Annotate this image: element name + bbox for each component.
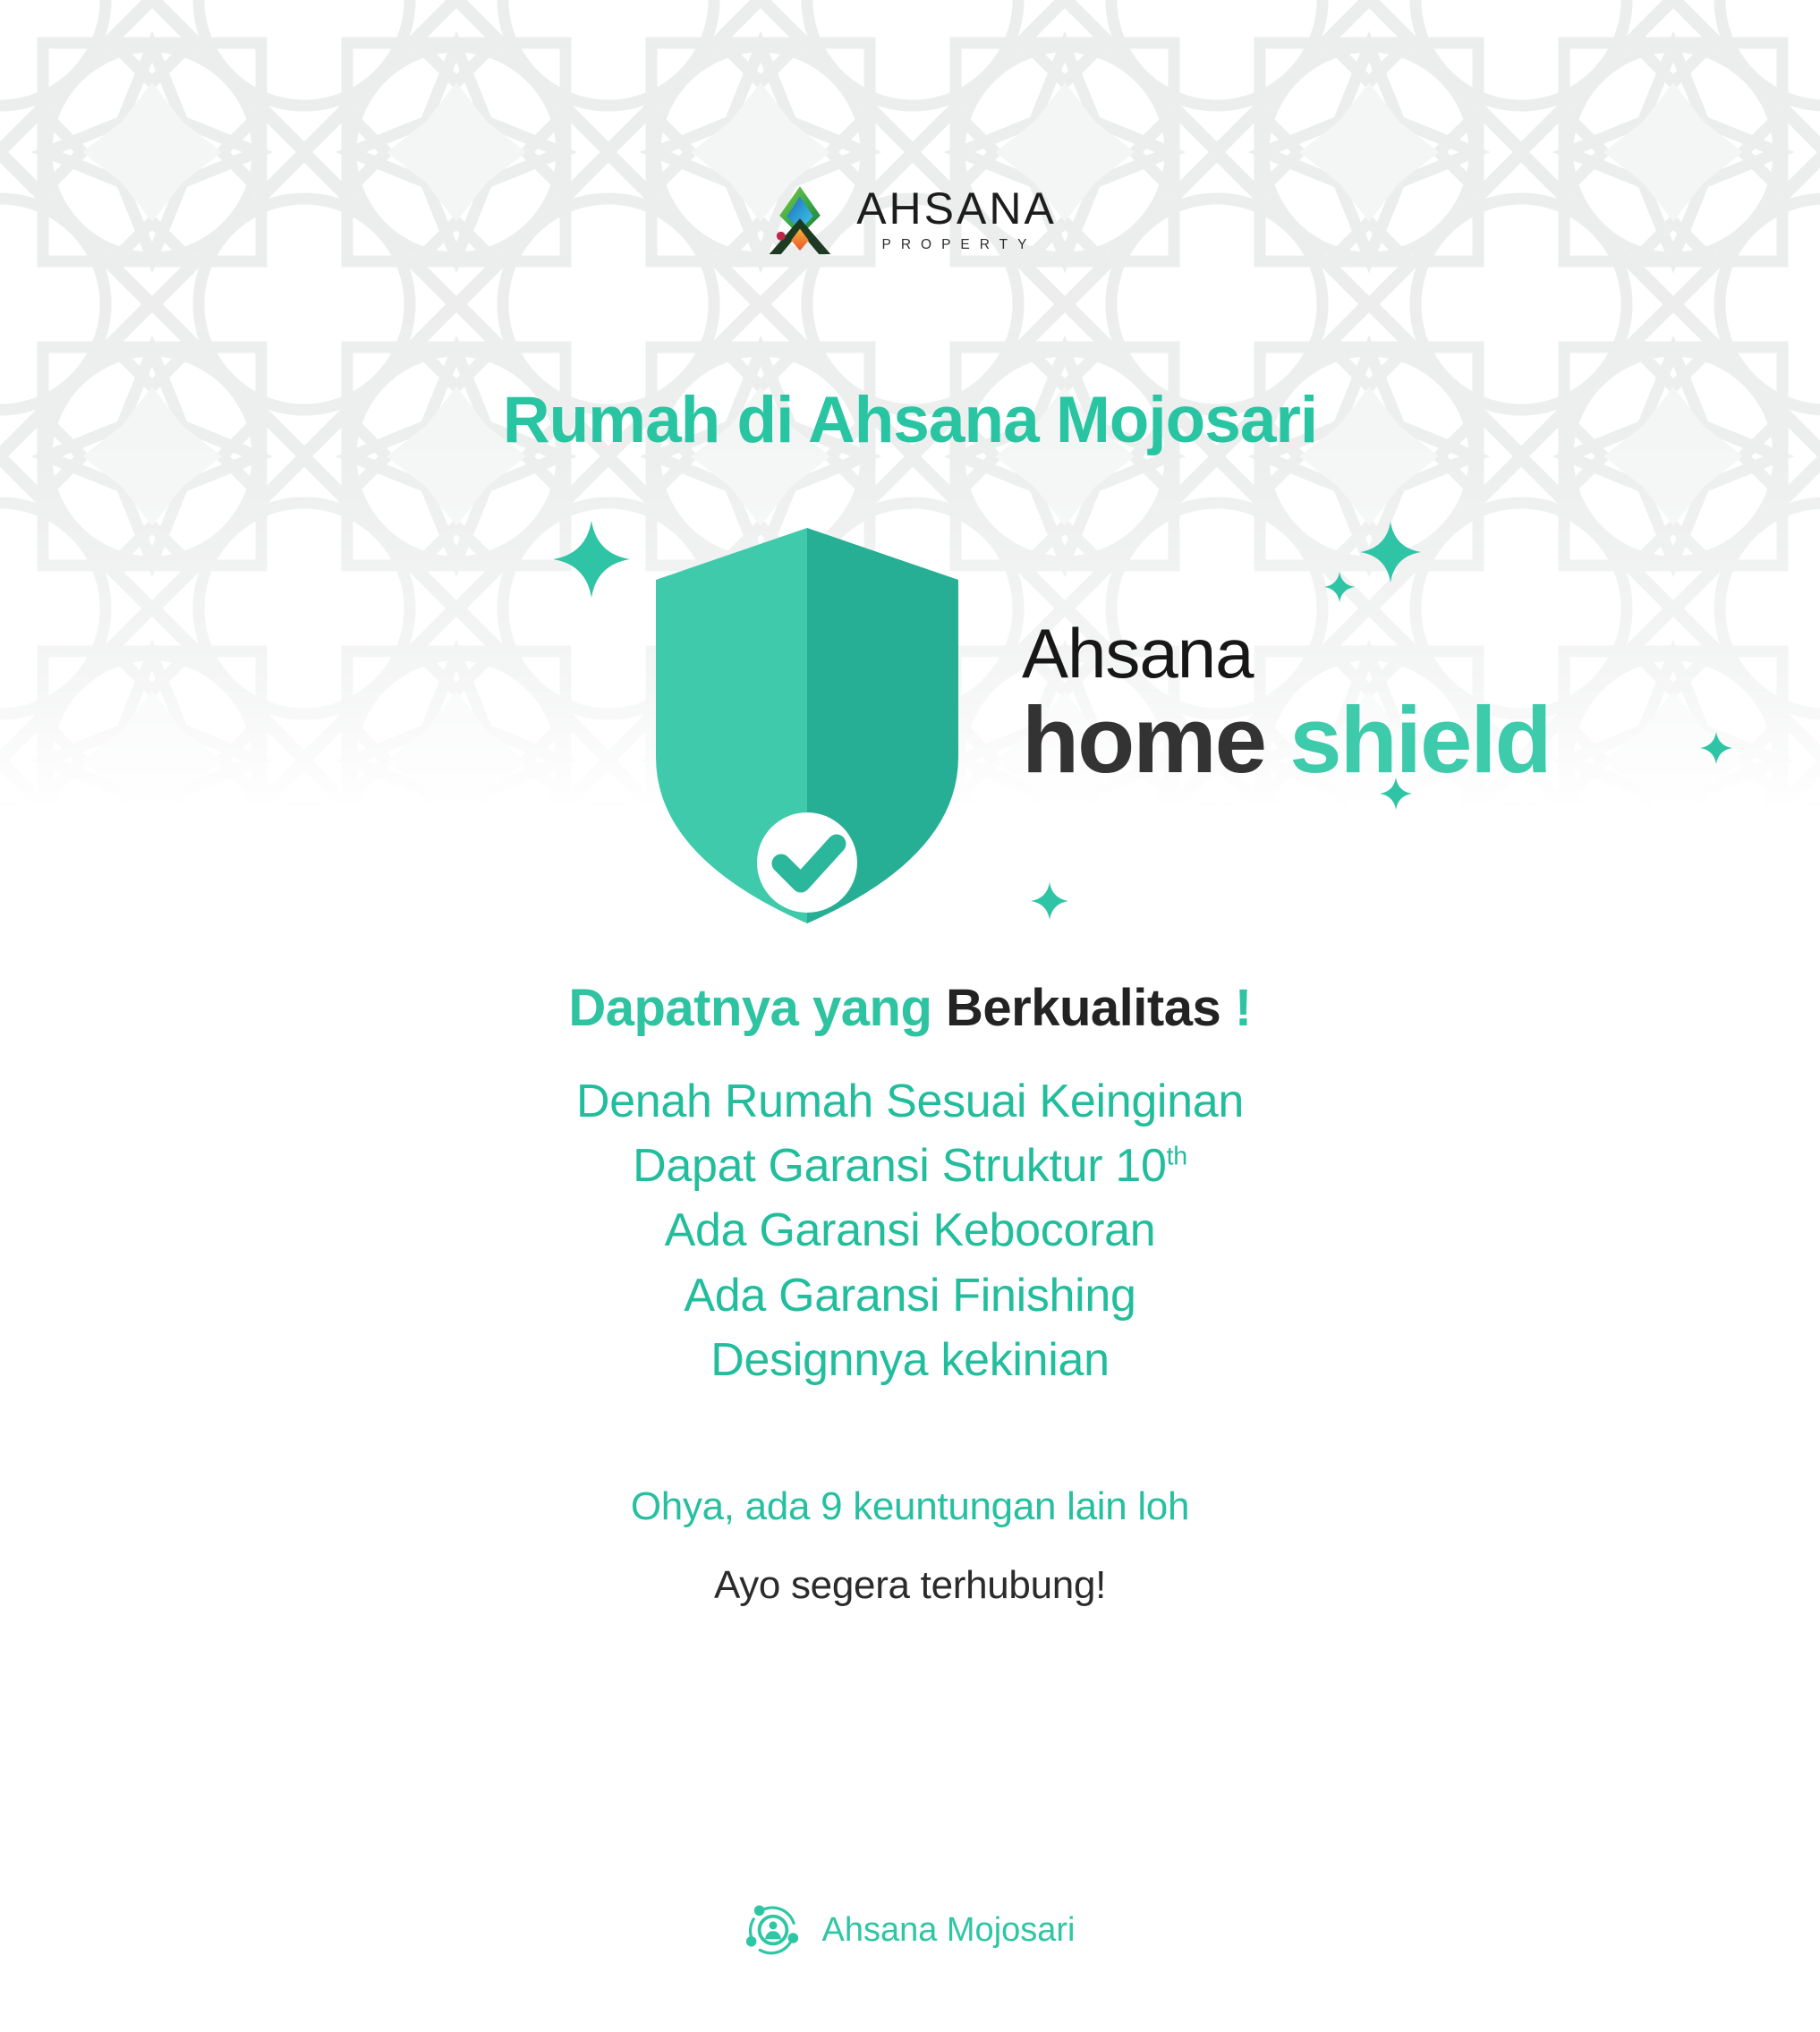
- subheading-exclaim: !: [1220, 979, 1251, 1037]
- brand-subtitle: PROPERTY: [882, 238, 1037, 252]
- subheading-green: Dapatnya yang: [568, 979, 946, 1037]
- home-shield-title: home shield: [1022, 692, 1765, 790]
- list-item: Ada Garansi Kebocoran: [665, 1204, 1156, 1256]
- benefit-sup: th: [1167, 1143, 1187, 1171]
- brand-header: AHSANA PROPERTY: [763, 183, 1057, 255]
- benefits-list: Denah Rumah Sesuai Keinginan Dapat Garan…: [576, 1076, 1244, 1386]
- list-item: Ada Garansi Finishing: [684, 1270, 1135, 1322]
- hero-lockup: Ahsana home shield: [315, 524, 1505, 945]
- brand-wordmark: AHSANA PROPERTY: [856, 186, 1057, 252]
- list-item: Designnya kekinian: [710, 1334, 1110, 1386]
- home-shield-logo: Ahsana home shield: [1022, 618, 1765, 790]
- home-shield-shield: shield: [1289, 688, 1550, 793]
- benefit-text: Ada Garansi Finishing: [684, 1270, 1135, 1322]
- list-item: Denah Rumah Sesuai Keinginan: [576, 1076, 1244, 1127]
- sparkle-icon: [1324, 572, 1355, 602]
- home-shield-home: home: [1022, 688, 1265, 793]
- brand-name: AHSANA: [856, 186, 1057, 231]
- shield-graphic: [651, 524, 964, 927]
- closing-line-green: Ohya, ada 9 keuntungan lain loh: [631, 1484, 1189, 1529]
- footer: Ahsana Mojosari: [0, 1901, 1820, 1959]
- sparkle-icon: [1360, 522, 1421, 582]
- subheading: Dapatnya yang Berkualitas !: [568, 982, 1251, 1034]
- shield-icon: [651, 524, 964, 927]
- page-title: Rumah di Ahsana Mojosari: [503, 387, 1317, 453]
- closing-block: Ohya, ada 9 keuntungan lain loh Ayo sege…: [631, 1484, 1189, 1608]
- benefit-text: Dapat Garansi Struktur 10: [633, 1140, 1167, 1192]
- list-item: Dapat Garansi Struktur 10th: [633, 1140, 1187, 1192]
- home-shield-ahsana: Ahsana: [1022, 618, 1765, 688]
- user-network-icon: [744, 1901, 802, 1959]
- poster-canvas: AHSANA PROPERTY Rumah di Ahsana Mojosari: [0, 0, 1820, 2032]
- check-circle-icon: [757, 812, 857, 913]
- benefit-text: Designnya kekinian: [710, 1334, 1110, 1386]
- footer-label: Ahsana Mojosari: [821, 1911, 1075, 1950]
- benefit-text: Denah Rumah Sesuai Keinginan: [576, 1076, 1244, 1127]
- sparkle-icon: [553, 521, 630, 598]
- closing-line-dark: Ayo segera terhubung!: [714, 1563, 1106, 1608]
- subheading-dark: Berkualitas: [946, 979, 1220, 1037]
- benefit-text: Ada Garansi Kebocoran: [665, 1204, 1156, 1256]
- ahsana-mountain-logo-icon: [763, 183, 837, 255]
- sparkle-icon: [1031, 882, 1068, 920]
